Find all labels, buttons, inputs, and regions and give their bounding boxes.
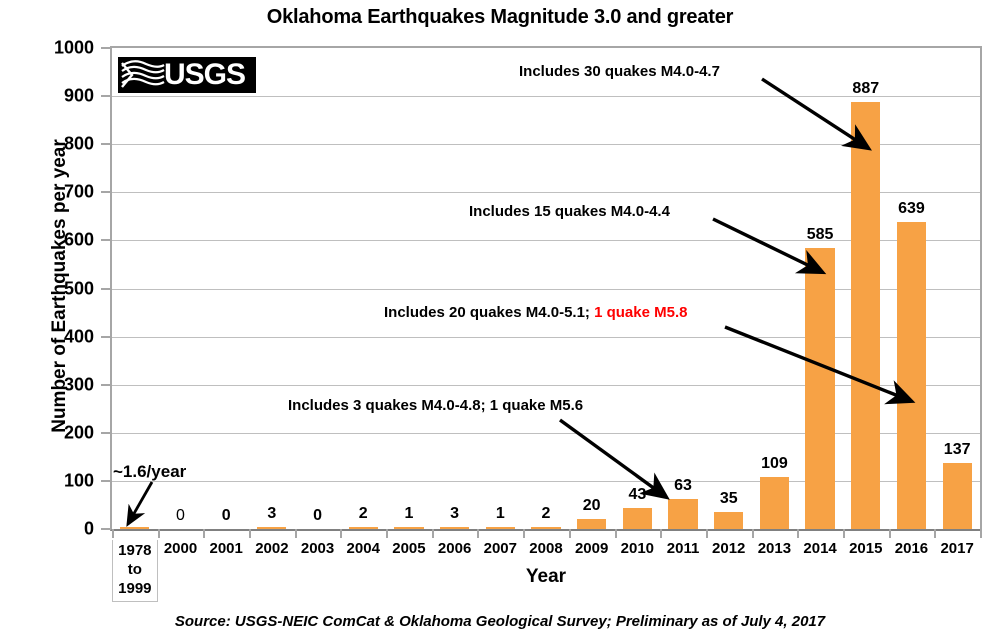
bar[interactable] xyxy=(349,527,378,530)
bar-slot[interactable]: 2 xyxy=(340,48,386,529)
annotation-rate: ~1.6/year xyxy=(113,462,186,482)
bar-value-label: 0 xyxy=(295,507,341,525)
x-category-label: 2005 xyxy=(386,540,432,559)
y-tick-mark xyxy=(101,95,110,97)
x-category-label: 2003 xyxy=(295,540,341,559)
bar-slot[interactable]: 63 xyxy=(660,48,706,529)
x-tick-mark xyxy=(843,529,845,538)
bar[interactable] xyxy=(440,527,469,530)
bar-slot[interactable]: 0 xyxy=(158,48,204,529)
y-tick-mark xyxy=(101,47,110,49)
y-tick-mark xyxy=(101,336,110,338)
x-category-label: 2002 xyxy=(249,540,295,559)
y-tick-label: 100 xyxy=(8,470,94,491)
x-category-label: 2011 xyxy=(660,540,706,559)
bar-value-label: 0 xyxy=(203,507,249,525)
annotation-2014: Includes 15 quakes M4.0-4.4 xyxy=(469,203,670,220)
source-note: Source: USGS-NEIC ComCat & Oklahoma Geol… xyxy=(0,613,1000,630)
x-tick-mark xyxy=(980,529,982,538)
x-tick-mark xyxy=(797,529,799,538)
x-category-label: 2004 xyxy=(340,540,386,559)
bar[interactable] xyxy=(577,519,606,529)
bar-value-label: 3 xyxy=(432,505,478,523)
y-tick-mark xyxy=(101,288,110,290)
annotation-2011: Includes 3 quakes M4.0-4.8; 1 quake M5.6 xyxy=(288,397,583,414)
x-category-label: 2006 xyxy=(432,540,478,559)
x-category-label: 2009 xyxy=(569,540,615,559)
usgs-logo: USGS xyxy=(118,57,256,93)
bar-slot[interactable]: 639 xyxy=(889,48,935,529)
x-tick-mark xyxy=(477,529,479,538)
bar[interactable] xyxy=(760,477,789,529)
bars-layer: 00302131220436335109585887639137 xyxy=(112,48,980,529)
bar[interactable] xyxy=(257,527,286,530)
y-tick-mark xyxy=(101,143,110,145)
bar-value-label: 585 xyxy=(797,226,843,244)
bar-slot[interactable]: 109 xyxy=(752,48,798,529)
bar-value-label: 2 xyxy=(340,505,386,523)
y-tick-label: 0 xyxy=(8,519,94,540)
bar[interactable] xyxy=(805,248,834,529)
y-tick-mark xyxy=(101,384,110,386)
x-category-label-line: 1978 xyxy=(113,542,157,561)
bar-value-label: 1 xyxy=(386,505,432,523)
bar[interactable] xyxy=(394,527,423,530)
x-axis-title: Year xyxy=(110,566,982,588)
bar-value-label: 20 xyxy=(569,497,615,515)
y-tick-mark xyxy=(101,528,110,530)
bar-value-label: 35 xyxy=(706,490,752,508)
bar-slot[interactable]: 43 xyxy=(615,48,661,529)
bar[interactable] xyxy=(943,463,972,529)
annotation-2016-red: 1 quake M5.8 xyxy=(594,304,687,321)
y-tick-label: 900 xyxy=(8,86,94,107)
x-category-label: 2016 xyxy=(889,540,935,559)
y-tick-label: 300 xyxy=(8,374,94,395)
y-tick-label: 800 xyxy=(8,134,94,155)
x-tick-mark xyxy=(523,529,525,538)
x-tick-mark xyxy=(660,529,662,538)
bar-slot[interactable]: 20 xyxy=(569,48,615,529)
bar-value-label: 639 xyxy=(889,200,935,218)
y-tick-label: 400 xyxy=(8,326,94,347)
bar-slot[interactable]: 0 xyxy=(295,48,341,529)
x-tick-mark xyxy=(889,529,891,538)
x-category-label: 2001 xyxy=(203,540,249,559)
x-tick-mark xyxy=(752,529,754,538)
bar-value-label: 887 xyxy=(843,80,889,98)
y-tick-label: 200 xyxy=(8,422,94,443)
x-category-label: 2012 xyxy=(706,540,752,559)
y-tick-label: 500 xyxy=(8,278,94,299)
y-tick-mark xyxy=(101,239,110,241)
x-tick-mark xyxy=(112,529,114,538)
bar[interactable] xyxy=(851,102,880,529)
bar-value-label: 63 xyxy=(660,477,706,495)
x-category-label: 2014 xyxy=(797,540,843,559)
bar-slot[interactable]: 1 xyxy=(477,48,523,529)
bar[interactable] xyxy=(668,499,697,529)
bar[interactable] xyxy=(120,527,149,530)
x-category-label: 2017 xyxy=(934,540,980,559)
usgs-logo-text: USGS xyxy=(164,60,245,90)
bar-value-label: 2 xyxy=(523,505,569,523)
bar-slot[interactable]: 3 xyxy=(249,48,295,529)
x-tick-mark xyxy=(386,529,388,538)
bar-slot[interactable]: 1 xyxy=(386,48,432,529)
x-tick-mark xyxy=(203,529,205,538)
x-category-label: 2010 xyxy=(615,540,661,559)
x-tick-mark xyxy=(934,529,936,538)
y-tick-mark xyxy=(101,191,110,193)
y-tick-mark xyxy=(101,480,110,482)
bar-slot[interactable]: 0 xyxy=(203,48,249,529)
bar[interactable] xyxy=(714,512,743,529)
bar-value-label: 137 xyxy=(934,441,980,459)
bar-slot[interactable]: 2 xyxy=(523,48,569,529)
bar-slot[interactable]: 887 xyxy=(843,48,889,529)
x-tick-mark xyxy=(295,529,297,538)
x-category-label: 2000 xyxy=(158,540,204,559)
x-category-label: 2015 xyxy=(843,540,889,559)
bar-slot[interactable]: 585 xyxy=(797,48,843,529)
annotation-2016-black: Includes 20 quakes M4.0-5.1; xyxy=(384,304,590,321)
bar-value-label: 0 xyxy=(158,507,204,525)
annotation-2015: Includes 30 quakes M4.0-4.7 xyxy=(519,63,720,80)
bar-value-label: 43 xyxy=(615,486,661,504)
usgs-wave-icon xyxy=(120,58,166,92)
bar-value-label: 109 xyxy=(752,455,798,473)
x-category-label: 2008 xyxy=(523,540,569,559)
bar-value-label: 1 xyxy=(477,505,523,523)
bar[interactable] xyxy=(531,527,560,530)
bar[interactable] xyxy=(486,527,515,530)
x-category-label: 2013 xyxy=(752,540,798,559)
y-tick-mark xyxy=(101,432,110,434)
x-tick-mark xyxy=(340,529,342,538)
bar-slot[interactable]: 137 xyxy=(934,48,980,529)
bar-slot[interactable]: 3 xyxy=(432,48,478,529)
y-tick-label: 600 xyxy=(8,230,94,251)
bar-slot[interactable] xyxy=(112,48,158,529)
y-tick-label: 700 xyxy=(8,182,94,203)
x-category-label: 2007 xyxy=(477,540,523,559)
bar[interactable] xyxy=(897,222,926,529)
x-tick-mark xyxy=(432,529,434,538)
annotation-2016: Includes 20 quakes M4.0-5.1; 1 quake M5.… xyxy=(384,304,687,321)
x-tick-mark xyxy=(158,529,160,538)
bar[interactable] xyxy=(623,508,652,529)
x-tick-mark xyxy=(569,529,571,538)
x-tick-mark xyxy=(615,529,617,538)
y-tick-label: 1000 xyxy=(8,38,94,59)
x-tick-mark xyxy=(249,529,251,538)
x-tick-mark xyxy=(706,529,708,538)
bar-slot[interactable]: 35 xyxy=(706,48,752,529)
bar-value-label: 3 xyxy=(249,505,295,523)
chart-container: Oklahoma Earthquakes Magnitude 3.0 and g… xyxy=(0,0,1000,641)
